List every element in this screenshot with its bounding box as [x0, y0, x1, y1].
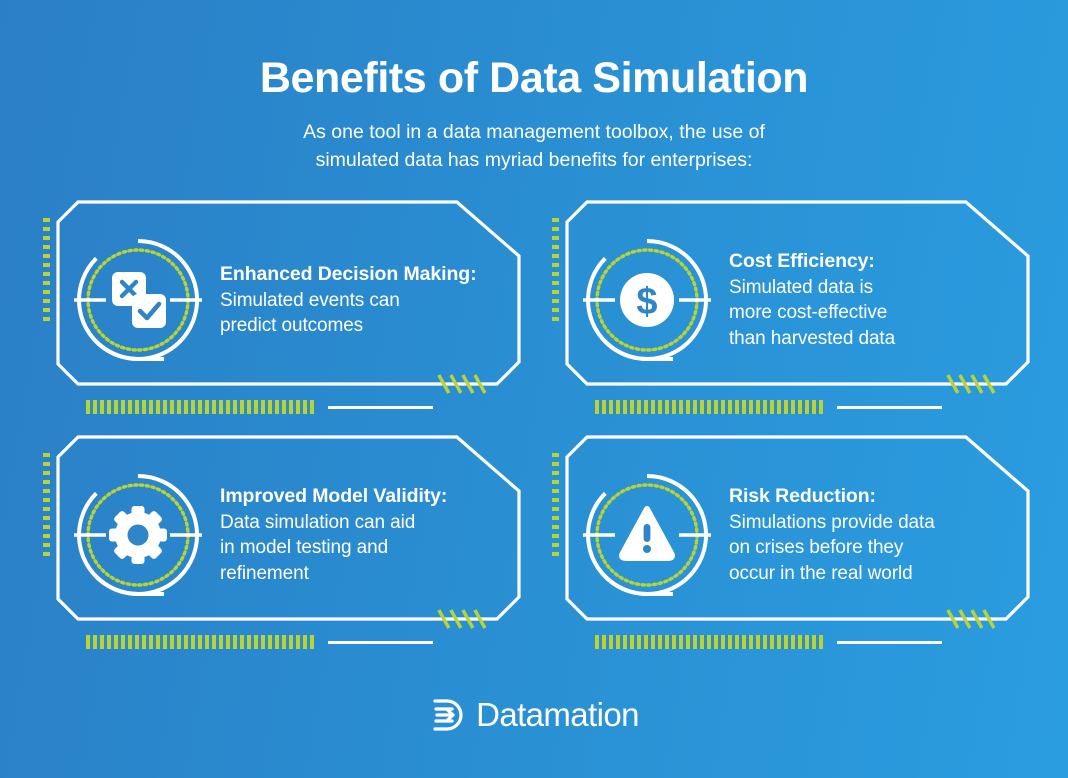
barcode-strip — [595, 635, 823, 649]
edge-dash-marks — [552, 453, 559, 557]
card-description: Data simulation can aid in model testing… — [220, 510, 487, 586]
card-description: Simulated data is more cost-effective th… — [729, 275, 996, 351]
card-desc-line-1: Simulations provide data — [729, 512, 935, 533]
edge-dash-marks — [43, 453, 50, 557]
card-desc-line-1: Data simulation can aid — [220, 512, 415, 533]
benefit-card: Enhanced Decision Making: Simulated even… — [38, 200, 521, 400]
card-desc-line-3: than harvested data — [729, 328, 895, 349]
edge-dash-marks — [552, 218, 559, 322]
card-heading: Cost Efficiency: — [729, 249, 996, 275]
card-barcode-bar — [86, 635, 442, 649]
brand-name: Datamation — [476, 696, 639, 734]
barcode-strip — [595, 400, 823, 414]
edge-dash-marks — [43, 218, 50, 322]
dollar-icon: $ — [581, 234, 713, 366]
card-content: Improved Model Validity: Data simulation… — [56, 435, 521, 635]
card-description: Simulations provide data on crises befor… — [729, 510, 996, 586]
barcode-line — [837, 406, 942, 409]
page-subtitle-line-1: As one tool in a data management toolbox… — [303, 121, 765, 143]
card-desc-line-2: more cost-effective — [729, 302, 887, 323]
card-content: Risk Reduction: Simulations provide data… — [565, 435, 1030, 635]
svg-text:$: $ — [636, 281, 657, 323]
barcode-line — [328, 406, 433, 409]
benefit-card: Improved Model Validity: Data simulation… — [38, 435, 521, 635]
card-desc-line-2: predict outcomes — [220, 315, 363, 336]
card-desc-line-1: Simulated data is — [729, 277, 873, 298]
card-desc-line-3: refinement — [220, 563, 309, 584]
barcode-line — [328, 641, 433, 644]
card-text: Improved Model Validity: Data simulation… — [204, 484, 487, 586]
page-subtitle: As one tool in a data management toolbox… — [0, 119, 1068, 174]
datamation-d-icon — [429, 696, 467, 734]
card-barcode-bar — [595, 635, 951, 649]
barcode-line — [837, 641, 942, 644]
barcode-strip — [86, 400, 314, 414]
card-heading: Enhanced Decision Making: — [220, 262, 487, 288]
gear-icon — [72, 469, 204, 601]
benefit-card: Risk Reduction: Simulations provide data… — [547, 435, 1030, 635]
card-desc-line-1: Simulated events can — [220, 290, 400, 311]
card-heading: Risk Reduction: — [729, 484, 996, 510]
card-text: Enhanced Decision Making: Simulated even… — [204, 262, 487, 339]
card-desc-line-2: in model testing and — [220, 537, 388, 558]
page-title: Benefits of Data Simulation — [0, 56, 1068, 101]
card-content: $ Cost Efficiency: Simulated data is mor… — [565, 200, 1030, 400]
card-desc-line-2: on crises before they — [729, 537, 903, 558]
card-desc-line-3: occur in the real world — [729, 563, 913, 584]
card-text: Risk Reduction: Simulations provide data… — [713, 484, 996, 586]
header: Benefits of Data Simulation As one tool … — [0, 0, 1068, 175]
card-text: Cost Efficiency: Simulated data is more … — [713, 249, 996, 351]
barcode-strip — [86, 635, 314, 649]
card-content: Enhanced Decision Making: Simulated even… — [56, 200, 521, 400]
warning-icon — [581, 469, 713, 601]
card-description: Simulated events can predict outcomes — [220, 288, 487, 339]
footer-logo: Datamation — [0, 696, 1068, 734]
benefit-card: $ Cost Efficiency: Simulated data is mor… — [547, 200, 1030, 400]
card-heading: Improved Model Validity: — [220, 484, 487, 510]
benefit-card-grid: Enhanced Decision Making: Simulated even… — [0, 200, 1068, 670]
card-barcode-bar — [595, 400, 951, 414]
page-subtitle-line-2: simulated data has myriad benefits for e… — [316, 149, 753, 171]
card-barcode-bar — [86, 400, 442, 414]
checklist-icon — [72, 234, 204, 366]
